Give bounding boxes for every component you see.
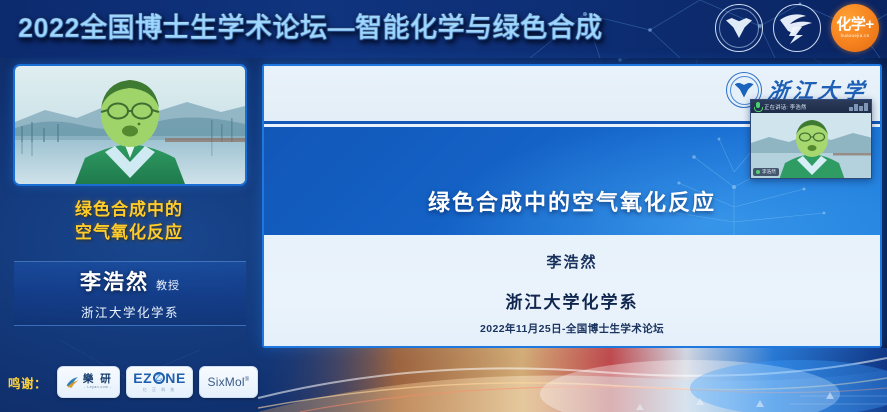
slide-main-title: 绿色合成中的空气氧化反应 [264, 185, 880, 217]
pip-status-bar: 正在讲话: 李浩然 [751, 100, 871, 113]
pip-participant-name-chip: 李浩然 [753, 168, 779, 176]
speaker-name-row: 李浩然 教授 [80, 266, 180, 296]
microphone-icon [754, 102, 761, 111]
leyan-name-en: - Leyan.com - [84, 386, 111, 390]
broadcast-screen: 2022全国博士生学术论坛—智能化学与绿色合成 化学+ huaxuejia.cn [0, 0, 887, 412]
slide-author-affiliation: 浙江大学化学系 [264, 288, 880, 313]
header-logo-group: 化学+ huaxuejia.cn [715, 4, 879, 52]
ezone-subtitle: 亿 正 科 技 [143, 387, 176, 393]
sixmol-registered-mark: ® [245, 377, 250, 383]
presentation-slide[interactable]: 浙江大学 绿色合成中的空气氧化反应 [262, 64, 882, 348]
leyan-text-block: 樂 研 - Leyan.com - [83, 374, 113, 390]
page-title: 2022全国博士生学术论坛—智能化学与绿色合成 [18, 8, 603, 48]
talk-title: 绿色合成中的 空气氧化反应 [0, 198, 258, 244]
sponsor-logo-sixmol[interactable]: SixMol® [199, 366, 258, 398]
pip-video-window[interactable]: 正在讲话: 李浩然 [750, 99, 872, 179]
talk-title-line-1: 绿色合成中的 [0, 198, 258, 221]
speaker-affiliation: 浙江大学化学系 [81, 302, 179, 321]
audio-level-icon [849, 103, 868, 111]
camera-feed-image [15, 66, 245, 184]
slide-body: 李浩然 浙江大学化学系 2022年11月25日-全国博士生学术论坛 [264, 235, 880, 348]
zju-bird-glyph [735, 83, 754, 98]
slide-author-name: 李浩然 [264, 251, 880, 272]
sixmol-name: SixMol [208, 375, 245, 389]
zhejiang-university-seal-icon [715, 4, 763, 52]
pip-participant-name: 李浩然 [762, 169, 776, 175]
page-header: 2022全国博士生学术论坛—智能化学与绿色合成 化学+ huaxuejia.cn [0, 0, 887, 58]
sixmol-wordmark: SixMol® [208, 375, 250, 389]
sponsor-bar: 鸣谢： 樂 研 - Leyan.com - EZNE 亿 正 科 技 SixMo [8, 358, 258, 406]
left-speaker-panel: 绿色合成中的 空气氧化反应 李浩然 教授 浙江大学化学系 鸣谢： 樂 研 - L… [0, 58, 258, 412]
zju-bird-glyph [726, 18, 752, 38]
wing-glyph [776, 11, 818, 45]
speaker-camera-feed[interactable] [13, 64, 247, 186]
mic-active-indicator-icon [756, 170, 760, 174]
leyan-name-cn: 樂 研 [83, 374, 113, 385]
huaxuejia-logo-cn: 化学+ [836, 17, 873, 32]
winged-emblem-icon [773, 4, 821, 52]
sponsor-logo-leyan[interactable]: 樂 研 - Leyan.com - [57, 366, 120, 398]
ezone-wordmark: EZNE [133, 372, 186, 385]
slide-event-meta: 2022年11月25日-全国博士生学术论坛 [264, 321, 880, 336]
pip-speaking-status: 正在讲话: 李浩然 [764, 103, 807, 111]
speaker-info-card: 李浩然 教授 浙江大学化学系 [14, 261, 246, 326]
leyan-mark-icon [65, 375, 80, 390]
speaker-rank: 教授 [156, 277, 180, 293]
ezone-o-icon [153, 372, 165, 384]
huaxuejia-logo-en: huaxuejia.cn [841, 32, 870, 39]
talk-title-line-2: 空气氧化反应 [0, 221, 258, 244]
sponsor-logo-ezone[interactable]: EZNE 亿 正 科 技 [126, 366, 193, 398]
speaker-name: 李浩然 [80, 266, 149, 296]
huaxuejia-logo-icon: 化学+ huaxuejia.cn [831, 4, 879, 52]
sponsor-label: 鸣谢： [8, 373, 51, 392]
